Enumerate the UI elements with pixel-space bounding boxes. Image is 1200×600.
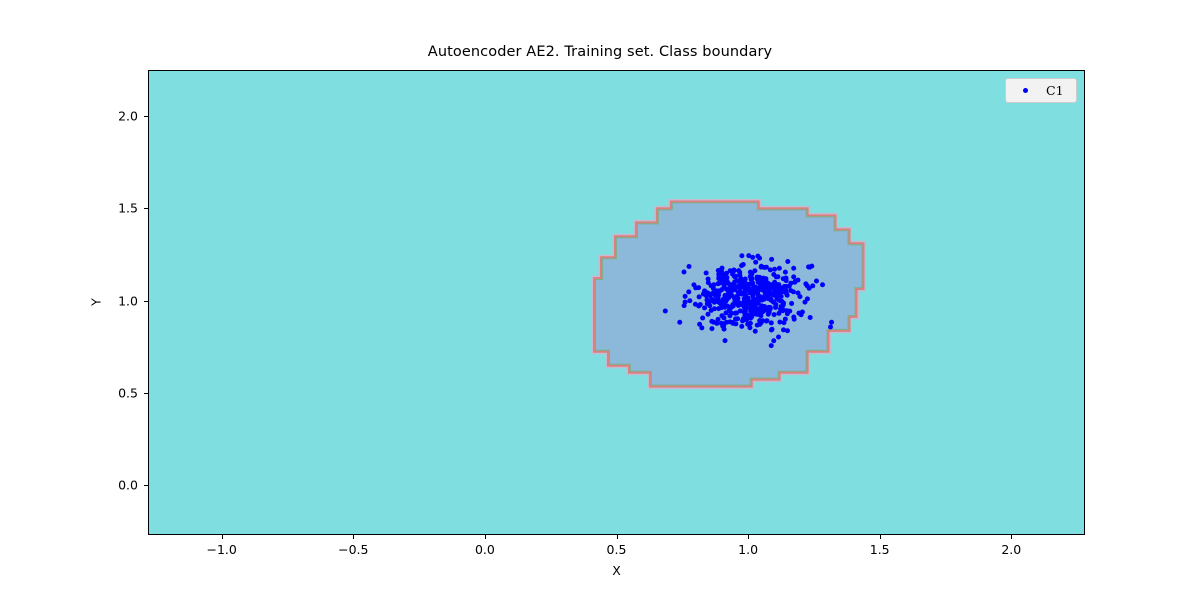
x-tick-mark xyxy=(1011,535,1012,539)
scatter-point xyxy=(687,264,692,269)
scatter-point xyxy=(775,293,780,298)
scatter-point xyxy=(788,281,793,286)
scatter-point xyxy=(783,317,788,322)
scatter-point xyxy=(708,293,713,298)
legend-box[interactable]: C1 xyxy=(1005,78,1077,103)
scatter-point xyxy=(687,298,692,303)
scatter-point xyxy=(820,282,825,287)
scatter-point xyxy=(757,256,762,261)
scatter-point xyxy=(777,298,782,303)
scatter-point xyxy=(793,279,798,284)
scatter-point xyxy=(739,253,744,258)
x-tick-mark xyxy=(222,535,223,539)
scatter-point xyxy=(739,324,744,329)
scatter-point xyxy=(796,311,801,316)
y-tick-label: 1.5 xyxy=(118,201,138,216)
scatter-point xyxy=(749,301,754,306)
x-tick-label: 1.5 xyxy=(870,542,890,557)
scatter-point xyxy=(727,313,732,318)
scatter-point xyxy=(738,308,743,313)
scatter-point xyxy=(740,292,745,297)
scatter-point xyxy=(711,283,716,288)
scatter-point xyxy=(719,313,724,318)
scatter-point xyxy=(760,284,765,289)
scatter-point xyxy=(808,315,813,320)
scatter-point xyxy=(716,288,721,293)
y-tick-mark xyxy=(144,485,148,486)
scatter-point xyxy=(766,284,771,289)
legend-label-c1: C1 xyxy=(1046,83,1064,98)
scatter-point xyxy=(791,274,796,279)
scatter-point xyxy=(772,267,777,272)
scatter-point xyxy=(756,280,761,285)
scatter-point xyxy=(716,317,721,322)
scatter-point xyxy=(663,309,668,314)
scatter-point xyxy=(769,328,774,333)
scatter-point xyxy=(716,293,721,298)
scatter-point xyxy=(797,294,802,299)
scatter-point xyxy=(757,322,762,327)
scatter-point xyxy=(709,319,714,324)
scatter-point xyxy=(746,253,751,258)
scatter-point xyxy=(750,294,755,299)
scatter-point xyxy=(728,285,733,290)
scatter-point xyxy=(769,343,774,348)
scatter-point xyxy=(719,305,724,310)
scatter-point xyxy=(752,268,757,273)
scatter-point xyxy=(719,279,724,284)
scatter-point xyxy=(700,315,705,320)
scatter-point xyxy=(769,320,774,325)
scatter-point xyxy=(727,319,732,324)
scatter-point xyxy=(771,272,776,277)
y-tick-mark xyxy=(144,393,148,394)
scatter-point xyxy=(783,270,788,275)
scatter-point xyxy=(677,320,682,325)
scatter-point xyxy=(782,289,787,294)
scatter-point xyxy=(709,308,714,313)
y-tick-label: 0.0 xyxy=(118,478,138,493)
y-tick-mark xyxy=(144,301,148,302)
scatter-point xyxy=(763,292,768,297)
scatter-point xyxy=(744,317,749,322)
x-tick-label: −0.5 xyxy=(338,542,368,557)
scatter-point xyxy=(705,312,710,317)
scatter-point xyxy=(759,297,764,302)
scatter-point xyxy=(683,294,688,299)
scatter-point xyxy=(759,264,764,269)
legend-marker-c1-icon xyxy=(1023,88,1028,93)
y-tick-mark xyxy=(144,208,148,209)
scatter-point xyxy=(723,338,728,343)
x-tick-mark xyxy=(353,535,354,539)
scatter-point xyxy=(748,274,753,279)
x-axis-label: X xyxy=(148,563,1085,578)
scatter-point xyxy=(753,260,758,265)
scatter-point xyxy=(768,267,773,272)
scatter-point xyxy=(702,305,707,310)
matplotlib-figure: Autoencoder AE2. Training set. Class bou… xyxy=(0,0,1200,600)
scatter-point xyxy=(814,278,819,283)
scatter-point xyxy=(829,320,834,325)
scatter-point xyxy=(785,259,790,264)
scatter-point xyxy=(693,285,698,290)
scatter-point xyxy=(709,326,714,331)
scatter-point xyxy=(769,257,774,262)
x-tick-mark xyxy=(485,535,486,539)
scatter-point xyxy=(747,325,752,330)
scatter-point xyxy=(683,300,688,305)
scatter-point xyxy=(787,309,792,314)
x-tick-mark xyxy=(617,535,618,539)
scatter-point xyxy=(773,282,778,287)
scatter-point xyxy=(737,300,742,305)
scatter-point xyxy=(697,294,702,299)
scatter-point xyxy=(788,288,793,293)
y-tick-label: 0.5 xyxy=(118,385,138,400)
y-tick-mark xyxy=(144,116,148,117)
scatter-point xyxy=(697,322,702,327)
scatter-point xyxy=(724,296,729,301)
scatter-point xyxy=(731,304,736,309)
scatter-point xyxy=(720,266,725,271)
scatter-point xyxy=(742,300,747,305)
scatter-point xyxy=(771,338,776,343)
scatter-point xyxy=(722,327,727,332)
x-tick-label: −1.0 xyxy=(207,542,237,557)
scatter-point xyxy=(732,279,737,284)
scatter-point xyxy=(721,272,726,277)
scatter-point xyxy=(773,305,778,310)
x-tick-mark xyxy=(748,535,749,539)
scatter-point xyxy=(732,274,737,279)
scatter-point xyxy=(778,307,783,312)
scatter-point xyxy=(728,268,733,273)
scatter-point xyxy=(755,288,760,293)
x-tick-mark xyxy=(880,535,881,539)
scatter-point xyxy=(717,273,722,278)
y-axis-label: Y xyxy=(89,298,104,306)
scatter-point xyxy=(757,306,762,311)
scatter-point xyxy=(686,289,691,294)
scatter-point xyxy=(803,281,808,286)
scatter-point xyxy=(732,299,737,304)
scatter-point xyxy=(723,280,728,285)
y-tick-label: 2.0 xyxy=(118,109,138,124)
scatter-point xyxy=(750,288,755,293)
scatter-point xyxy=(722,321,727,326)
scatter-point xyxy=(789,301,794,306)
scatter-point xyxy=(802,300,807,305)
scatter-point xyxy=(764,318,769,323)
scatter-point xyxy=(682,270,687,275)
scatter-point xyxy=(706,280,711,285)
scatter-point xyxy=(777,266,782,271)
scatter-point xyxy=(763,276,768,281)
scatter-point xyxy=(736,284,741,289)
scatter-point xyxy=(791,266,796,271)
scatter-point xyxy=(707,302,712,307)
scatter-point xyxy=(792,317,797,322)
scatter-point xyxy=(806,264,811,269)
scatter-point xyxy=(704,270,709,275)
scatter-point xyxy=(767,310,772,315)
x-tick-label: 0.0 xyxy=(475,542,495,557)
plot-svg xyxy=(149,71,1084,534)
scatter-point xyxy=(733,321,738,326)
scatter-point xyxy=(828,324,833,329)
scatter-point xyxy=(772,312,777,317)
scatter-point xyxy=(807,286,812,291)
x-tick-label: 2.0 xyxy=(1001,542,1021,557)
y-tick-label: 1.0 xyxy=(118,293,138,308)
scatter-point xyxy=(753,329,758,334)
scatter-point xyxy=(785,328,790,333)
scatter-point xyxy=(741,262,746,267)
scatter-point xyxy=(753,309,758,314)
scatter-point xyxy=(701,292,706,297)
chart-title: Autoencoder AE2. Training set. Class bou… xyxy=(0,44,1200,60)
scatter-point xyxy=(755,299,760,304)
x-tick-label: 0.5 xyxy=(607,542,627,557)
x-tick-label: 1.0 xyxy=(738,542,758,557)
scatter-point xyxy=(733,316,738,321)
plot-area xyxy=(148,70,1085,535)
scatter-point xyxy=(776,335,781,340)
scatter-point xyxy=(781,276,786,281)
scatter-point xyxy=(696,304,701,309)
